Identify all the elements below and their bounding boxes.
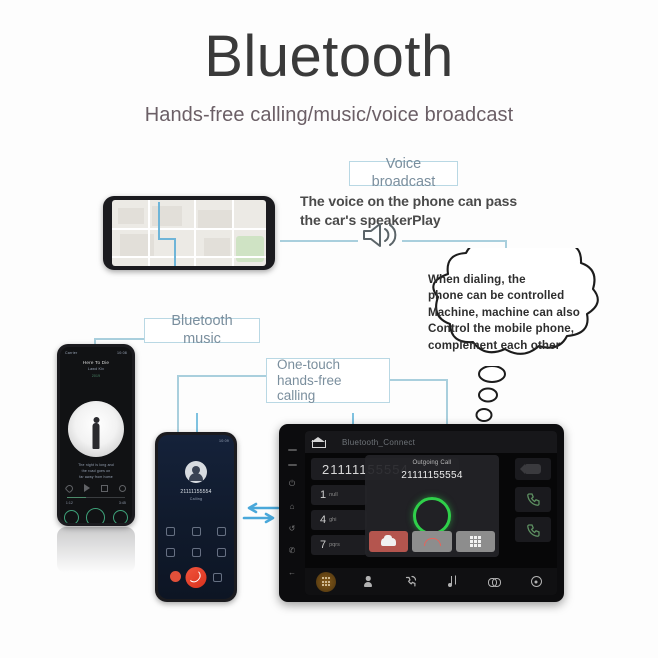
thought-bubble-tail (470, 366, 510, 428)
transfer-to-car-button[interactable] (369, 531, 408, 552)
call-key-hold[interactable] (192, 548, 201, 557)
nav-item-dialpad[interactable] (305, 572, 347, 592)
connector-speaker-to-bubble (402, 240, 506, 242)
page-subtitle: Hands-free calling/music/voice broadcast (0, 104, 658, 127)
music-time-total: 3:45 (119, 501, 126, 505)
dialog-actions (369, 531, 495, 552)
call-key-keypad[interactable] (192, 527, 201, 536)
record-indicator[interactable] (170, 571, 181, 582)
more-icon[interactable] (119, 485, 126, 492)
album-art (68, 401, 124, 457)
thought-bubble-text: When dialing, the phone can be controlle… (428, 272, 596, 354)
share-icon[interactable] (84, 484, 90, 492)
map-screen (112, 200, 266, 266)
bluetooth-music-label[interactable]: Bluetooth music (144, 318, 260, 343)
call-key-more[interactable] (213, 573, 222, 582)
hw-button-vol-down[interactable] (288, 464, 297, 466)
call-status-label: Calling (158, 497, 234, 501)
call-history-icon (404, 575, 417, 588)
music-player-phone: Carrier 10:08 Here To Die Lawd Kix 2019 … (57, 344, 135, 526)
call-key-contacts[interactable] (217, 548, 226, 557)
music-lyric-line-3: far away from home (60, 475, 132, 479)
hang-up-button[interactable] (412, 531, 451, 552)
hw-exit-icon[interactable]: ← (288, 568, 297, 577)
music-phone-reflection (57, 527, 135, 573)
connector-onetouch-right (389, 379, 447, 381)
hw-home-icon[interactable]: ⌂ (288, 502, 297, 511)
answer-call-button[interactable] (515, 487, 551, 512)
voice-broadcast-label[interactable]: Voice broadcast (349, 161, 458, 186)
connector-music-label (94, 338, 146, 340)
backspace-button[interactable] (515, 458, 551, 480)
nav-item-settings[interactable] (515, 576, 557, 587)
nav-item-contacts[interactable] (347, 576, 389, 587)
dial-key-7[interactable]: 7 pqrs (311, 535, 367, 555)
progress-track[interactable] (67, 497, 125, 498)
link-icon (488, 578, 501, 585)
outgoing-call-dialog: Outgoing Call 21111155554 (365, 455, 499, 557)
phone-icon (526, 492, 541, 507)
dialpad-active-icon (316, 572, 336, 592)
show-keypad-button[interactable] (456, 531, 495, 552)
hw-button-vol-up[interactable] (288, 449, 297, 451)
head-unit-screen: Bluetooth_Connect 21111155554 1 null 4 g… (305, 431, 557, 595)
hang-up-icon (424, 538, 439, 545)
calling-ring-indicator (413, 497, 451, 535)
next-track-button[interactable] (113, 510, 128, 523)
hw-power-icon[interactable]: ⏻ (288, 479, 297, 488)
head-unit-nav-bar (305, 568, 557, 595)
dial-call-button[interactable] (515, 517, 551, 542)
call-phone: 10:09 21111155554 Calling (155, 432, 237, 602)
dialog-number: 21111155554 (365, 470, 499, 481)
poster-canvas: Bluetooth Hands-free calling/music/voice… (0, 0, 658, 658)
connector-map-to-speaker (280, 240, 358, 242)
dial-key-1[interactable]: 1 null (311, 485, 367, 505)
music-track-extra: 2019 (60, 374, 132, 378)
map-phone (103, 196, 275, 270)
speaker-icon (360, 219, 402, 251)
call-key-mute[interactable] (166, 527, 175, 536)
end-call-button[interactable] (186, 567, 207, 588)
nav-item-link[interactable] (473, 578, 515, 585)
music-lyric-line-2: the road goes on (60, 469, 132, 473)
call-key-speaker[interactable] (217, 527, 226, 536)
music-track-artist: Lawd Kix (60, 367, 132, 371)
hw-mic-icon[interactable]: ✆ (288, 546, 297, 555)
phone-dial-icon (526, 522, 541, 537)
one-touch-calling-label[interactable]: One-touch hands-free calling (266, 358, 390, 403)
page-title: Bluetooth (0, 28, 658, 86)
bidirectional-sync-arrow (238, 500, 284, 526)
dial-key-4[interactable]: 4 ghi (311, 510, 367, 530)
heart-icon[interactable] (64, 483, 74, 493)
dialog-title: Outgoing Call (365, 460, 499, 466)
call-status-time: 10:09 (158, 439, 234, 443)
nav-item-music[interactable] (431, 576, 473, 587)
music-track-title: Here To Die (60, 360, 132, 365)
call-phone-screen: 10:09 21111155554 Calling (158, 435, 234, 599)
music-note-icon (448, 576, 457, 587)
voice-broadcast-description: The voice on the phone can pass the car'… (300, 192, 530, 230)
contacts-icon (364, 576, 372, 587)
music-lyric-line-1: The night is long and (60, 463, 132, 467)
gear-icon (531, 576, 542, 587)
connector-onetouch-to-headunit (446, 379, 448, 427)
music-time-elapsed: 1:12 (66, 501, 73, 505)
head-unit-status-bar: Bluetooth_Connect (305, 431, 557, 453)
music-player-screen: Carrier 10:08 Here To Die Lawd Kix 2019 … (60, 347, 132, 523)
home-icon[interactable] (312, 437, 324, 448)
call-number: 21111155554 (158, 489, 234, 495)
car-icon (381, 538, 396, 546)
connector-onetouch-left (177, 375, 267, 377)
keypad-icon (470, 536, 481, 547)
play-pause-button[interactable] (86, 508, 105, 523)
nav-item-call-history[interactable] (389, 575, 431, 588)
previous-track-button[interactable] (64, 510, 79, 523)
car-head-unit: ⏻ ⌂ ↺ ✆ ← Bluetooth_Connect 21111155554 … (279, 424, 564, 602)
music-status-carrier: Carrier (65, 351, 77, 355)
backspace-icon (525, 464, 541, 474)
download-icon[interactable] (101, 485, 108, 492)
hw-back-icon[interactable]: ↺ (288, 524, 297, 533)
call-key-add[interactable] (166, 548, 175, 557)
caller-avatar (185, 461, 207, 483)
progress-fill (67, 497, 86, 498)
music-status-time: 10:08 (117, 351, 127, 355)
head-unit-hardware-buttons: ⏻ ⌂ ↺ ✆ ← (279, 424, 305, 602)
head-unit-status-title: Bluetooth_Connect (342, 438, 415, 447)
